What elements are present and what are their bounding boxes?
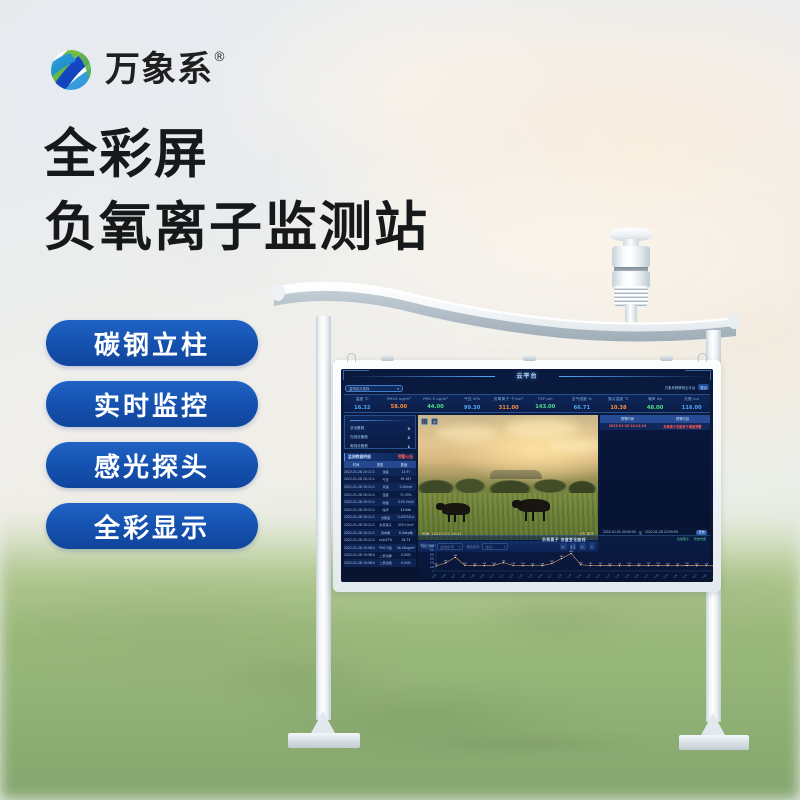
log-cell-type: 雨量 xyxy=(375,500,395,505)
right-base-gusset xyxy=(700,713,726,737)
log-panel-title: 监测数据明细 xyxy=(348,454,371,460)
alerts-empty-area xyxy=(600,430,710,527)
sensor-stem xyxy=(625,304,637,322)
cattle-leg xyxy=(532,510,534,521)
metric-noise: 噪声 db 48.00 xyxy=(637,395,674,412)
alerts-table-header: 预警时间 预警内容 xyxy=(600,415,710,423)
sensor-upper-body xyxy=(612,246,650,268)
log-table-body[interactable]: 2022-01-28 20:11:19 温度 13.97 2022-01-28 … xyxy=(344,468,416,567)
alerts-panel[interactable]: 预警时间 预警内容 2022-01-28 20:11:19 负氧离子浓度低于阈值… xyxy=(600,415,710,536)
range-separator: 至 xyxy=(639,530,642,535)
metric-value: 58.00 xyxy=(381,404,418,410)
svg-text:126: 126 xyxy=(531,563,535,565)
metric-value: 99.30 xyxy=(454,405,491,411)
svg-text:500: 500 xyxy=(430,549,435,552)
log-cell-time: 2022-01-28 20:11:19 xyxy=(344,477,375,481)
cloud-shape xyxy=(436,425,496,441)
svg-text:01-18: 01-18 xyxy=(557,574,563,578)
logout-button[interactable]: 退出 xyxy=(698,384,709,390)
metric-label: PM10 ug/m³ xyxy=(381,397,418,401)
trend-line-chart: 010020030040050060012001-0519501-0633001… xyxy=(420,544,713,578)
alert-notice-label[interactable]: 预警公告 xyxy=(398,454,413,460)
device-stats-box: 总设备数 3 在线设备数 2 离线设备数 1 xyxy=(344,415,416,449)
cattle-head xyxy=(436,503,445,510)
cloud-shape xyxy=(506,419,578,439)
svg-text:02-03: 02-03 xyxy=(711,574,713,578)
metric-label: 露点温度 ℃ xyxy=(600,397,637,402)
svg-text:01-09: 01-09 xyxy=(470,574,476,578)
log-cell-type: 二氧化碳 xyxy=(375,553,395,558)
log-cell-type: 噪声 xyxy=(375,507,395,512)
log-cell-time: 2022-01-28 20:11:19 xyxy=(344,508,375,512)
log-cell-time: 2022-01-28 19:56:07 xyxy=(344,561,375,565)
log-column-type: 类型 xyxy=(368,462,392,467)
log-cell-type: PM2.5值 xyxy=(375,545,395,550)
stat-label: 在线设备数 xyxy=(350,435,368,440)
metric-pm25: PM2.5 ug/m³ 44.00 xyxy=(417,395,454,412)
account-name: 万象系物联网云平台 xyxy=(665,385,696,390)
table-row[interactable]: 2022-01-28 20:11:19 负氧离子浓度低于阈值预警 xyxy=(600,423,710,431)
log-cell-value: 13.97 xyxy=(396,470,416,474)
cattle-leg xyxy=(543,510,545,521)
stat-value: 1 xyxy=(407,445,410,449)
svg-text:600: 600 xyxy=(430,545,435,548)
metric-label: 气压 kPa xyxy=(454,397,491,402)
svg-text:01-10: 01-10 xyxy=(480,574,486,578)
svg-text:01-23: 01-23 xyxy=(605,574,611,578)
table-row[interactable]: 2022-01-28 19:56:07 PM2.5值 56.26ug/m³ xyxy=(344,544,416,552)
log-cell-value: 0.00% xyxy=(396,561,416,565)
wave-canopy xyxy=(270,278,740,350)
metric-negative-oxygen-ion: 负氧离子 个/cm³ 311.00 xyxy=(490,395,527,412)
svg-text:330: 330 xyxy=(454,555,458,557)
metric-tsp: TSP μm 143.00 xyxy=(527,395,564,412)
log-cell-value: 320个/cm³ xyxy=(396,522,416,527)
log-panel-header: 监测数据明细 预警公告 xyxy=(344,453,416,461)
metric-label: 空气湿度 % xyxy=(564,397,601,402)
ground-shadow xyxy=(360,736,700,752)
legend-item-average: 历史均值 xyxy=(694,537,706,541)
svg-text:0: 0 xyxy=(433,570,435,573)
svg-text:01-05: 01-05 xyxy=(431,574,437,578)
svg-text:126: 126 xyxy=(705,563,709,565)
cattle-leg xyxy=(454,513,456,522)
account-box: 万象系物联网云平台 退出 xyxy=(665,384,709,390)
svg-text:01-07: 01-07 xyxy=(451,574,457,578)
log-cell-value: 99.187 xyxy=(396,477,416,481)
log-column-value: 数值 xyxy=(392,462,416,467)
log-cell-value: 71.95% xyxy=(396,493,416,497)
log-cell-value: 18.73 xyxy=(396,538,416,542)
svg-text:132: 132 xyxy=(589,563,593,565)
ultrasonic-weather-sensor-icon xyxy=(603,222,659,310)
led-display-enclosure: 云平台 监测站点选择 ▾ 万象系物联网云平台 退出 温度 ℃ 16.32 PM1… xyxy=(333,360,721,592)
left-post xyxy=(316,316,331,720)
table-row[interactable]: 2022-01-28 20:11:19 温度 13.97 xyxy=(344,468,416,476)
log-cell-type: co2ulT% xyxy=(375,538,395,542)
cattle-head xyxy=(512,500,522,508)
metric-value: 44.00 xyxy=(417,404,454,410)
log-cell-value: 56.26ug/m³ xyxy=(396,546,416,550)
metric-label: TSP μm xyxy=(527,397,564,401)
stat-label: 离线设备数 xyxy=(350,444,368,449)
metric-label: 负氧离子 个/cm³ xyxy=(490,397,527,402)
log-cell-value: 43.6db xyxy=(396,508,416,512)
log-cell-type: 光照度 xyxy=(375,515,395,520)
svg-text:01-13: 01-13 xyxy=(509,574,515,578)
svg-text:420: 420 xyxy=(569,551,573,553)
svg-text:128: 128 xyxy=(666,563,670,565)
svg-text:400: 400 xyxy=(430,553,435,556)
svg-text:130: 130 xyxy=(685,563,689,565)
svg-text:02-01: 02-01 xyxy=(692,574,698,578)
bezel-tab-3 xyxy=(660,356,673,361)
metric-dew-point: 露点温度 ℃ 10.38 xyxy=(600,395,637,412)
svg-text:01-22: 01-22 xyxy=(596,574,602,578)
log-cell-time: 2022-01-28 20:11:19 xyxy=(344,523,375,527)
snapshot-icon[interactable]: ◎ xyxy=(431,418,438,425)
dashboard-screen[interactable]: 云平台 监测站点选择 ▾ 万象系物联网云平台 退出 温度 ℃ 16.32 PM1… xyxy=(341,369,713,582)
bezel-hook-left xyxy=(347,353,356,362)
alert-cell-time: 2022-01-28 20:11:19 xyxy=(600,424,655,428)
log-cell-time: 2022-01-28 20:11:19 xyxy=(344,470,375,474)
log-cell-type: 湿度 xyxy=(375,492,395,497)
svg-text:01-15: 01-15 xyxy=(528,574,534,578)
stat-offline-devices: 离线设备数 1 xyxy=(350,442,410,451)
svg-text:132: 132 xyxy=(647,563,651,565)
log-cell-type: 风速 xyxy=(375,484,395,489)
log-cell-time: 2022-01-28 20:11:19 xyxy=(344,538,375,542)
log-cell-time: 2022-01-28 20:11:19 xyxy=(344,485,375,489)
svg-text:200: 200 xyxy=(502,560,506,562)
svg-text:01-20: 01-20 xyxy=(576,574,582,578)
left-base-gusset xyxy=(310,711,336,735)
table-row[interactable]: 2022-01-28 20:11:19 噪声 43.6db xyxy=(344,506,416,514)
log-column-time: 时间 xyxy=(344,462,368,467)
site-select-dropdown[interactable]: 监测站点选择 ▾ xyxy=(345,385,403,392)
svg-text:132: 132 xyxy=(511,563,515,565)
svg-text:01-25: 01-25 xyxy=(625,574,631,578)
dashboard-title: 云平台 xyxy=(341,371,713,380)
range-end-value[interactable]: 2022-01-28 23:59:59 xyxy=(645,530,678,534)
svg-text:01-08: 01-08 xyxy=(460,574,466,578)
table-row[interactable]: 2022-01-28 20:11:19 光照度 0.00732Lx xyxy=(344,514,416,522)
right-base-plate xyxy=(679,735,749,750)
trend-chart-panel: 负氧离子 浓度变化曲线 负氧离子 历史均值 浓度(个/cm³) 01002003… xyxy=(418,535,710,579)
svg-text:126: 126 xyxy=(676,563,680,565)
left-base-plate xyxy=(288,733,360,748)
svg-text:01-29: 01-29 xyxy=(663,574,669,578)
log-cell-time: 2022-01-28 20:11:19 xyxy=(344,493,375,497)
alert-cell-content: 负氧离子浓度低于阈值预警 xyxy=(655,424,710,429)
metric-pressure: 气压 kPa 99.30 xyxy=(454,395,491,412)
metric-value: 48.00 xyxy=(637,405,674,411)
svg-text:128: 128 xyxy=(637,563,641,565)
svg-text:300: 300 xyxy=(430,558,435,561)
svg-text:01-19: 01-19 xyxy=(567,574,573,578)
cattle-leg xyxy=(463,513,465,522)
site-select-value: 监测站点选择 xyxy=(349,386,369,391)
svg-text:130: 130 xyxy=(627,563,631,565)
log-cell-time: 2022-01-28 20:11:19 xyxy=(344,531,375,535)
chart-legend: 负氧离子 历史均值 xyxy=(677,537,706,541)
table-row[interactable]: 2022-01-28 20:11:19 负氧离子 320个/cm³ xyxy=(344,521,416,529)
log-cell-time: 2022-01-28 20:11:19 xyxy=(344,500,375,504)
screen-header: 云平台 xyxy=(341,369,713,384)
table-row[interactable]: 2022-01-28 20:11:19 风向角 8.4deg角 xyxy=(344,529,416,537)
log-cell-time: 2022-01-28 19:56:07 xyxy=(344,553,375,557)
cattle-silhouette xyxy=(518,499,550,512)
range-start-value[interactable]: 2022-01-01 00:00:00 xyxy=(603,530,636,534)
svg-text:135: 135 xyxy=(463,563,467,565)
table-row[interactable]: 2022-01-28 20:11:19 co2ulT% 18.73 xyxy=(344,536,416,544)
cattle-leg xyxy=(525,510,527,521)
metric-value: 143.00 xyxy=(527,404,564,410)
log-cell-time: 2022-01-28 20:11:19 xyxy=(344,515,375,519)
log-cell-type: 温度 xyxy=(375,469,395,474)
alert-column-time: 预警时间 xyxy=(600,416,655,421)
log-cell-value: 8.4deg角 xyxy=(396,530,416,535)
svg-text:128: 128 xyxy=(695,563,699,565)
cattle-silhouette xyxy=(442,503,470,515)
metric-humidity: 空气湿度 % 66.71 xyxy=(564,395,601,412)
table-row[interactable]: 2022-01-28 19:56:07 二氧化碳 0.00% xyxy=(344,552,416,560)
log-cell-type: 二氧化硫 xyxy=(375,560,395,565)
svg-text:01-12: 01-12 xyxy=(499,574,505,578)
table-row[interactable]: 2022-01-28 20:11:19 湿度 71.95% xyxy=(344,491,416,499)
left-sidebar: 总设备数 3 在线设备数 2 离线设备数 1 监测数据明细 预警公告 xyxy=(344,415,416,536)
svg-text:128: 128 xyxy=(473,563,477,565)
table-row[interactable]: 2022-01-28 19:56:07 二氧化硫 0.00% xyxy=(344,559,416,567)
metric-value: 311.00 xyxy=(490,405,527,411)
svg-text:130: 130 xyxy=(656,563,660,565)
stat-value: 3 xyxy=(407,427,410,431)
svg-text:01-24: 01-24 xyxy=(615,574,621,578)
metric-illuminance: 光照 lux 116.00 xyxy=(673,395,710,412)
fullscreen-icon[interactable]: ⛶ xyxy=(421,418,428,425)
metric-pm10: PM10 ug/m³ 58.00 xyxy=(381,395,418,412)
svg-text:02-02: 02-02 xyxy=(702,574,708,578)
sensor-radiation-shield xyxy=(614,286,648,306)
metric-value: 10.38 xyxy=(600,405,637,411)
log-cell-value: 0.00 0m/h xyxy=(396,500,416,504)
log-table-header: 时间 类型 数值 xyxy=(344,461,416,468)
log-cell-type: 负氧离子 xyxy=(375,522,395,527)
log-cell-value: 0.00% xyxy=(396,553,416,557)
svg-text:01-06: 01-06 xyxy=(441,574,447,578)
svg-text:01-21: 01-21 xyxy=(586,574,592,578)
svg-text:130: 130 xyxy=(521,563,525,565)
svg-text:100: 100 xyxy=(430,566,435,569)
svg-text:130: 130 xyxy=(482,563,486,565)
svg-text:01-27: 01-27 xyxy=(644,574,650,578)
metric-value: 16.32 xyxy=(344,405,381,411)
bezel-tab-1 xyxy=(381,356,394,361)
svg-text:130: 130 xyxy=(598,563,602,565)
monitoring-station-structure: 云平台 监测站点选择 ▾ 万象系物联网云平台 退出 温度 ℃ 16.32 PM1… xyxy=(0,0,800,800)
table-row[interactable]: 2022-01-28 20:11:19 风速 0.30m/s xyxy=(344,483,416,491)
svg-text:01-11: 01-11 xyxy=(489,574,495,578)
video-feed-panel[interactable]: ⛶ ◎ 时间: 2022/7/23 16:42 山东 潍坊 xyxy=(418,415,598,540)
metric-strip: 温度 ℃ 16.32 PM10 ug/m³ 58.00 PM2.5 ug/m³ … xyxy=(344,394,710,413)
stat-label: 总设备数 xyxy=(350,426,364,431)
svg-text:01-30: 01-30 xyxy=(673,574,679,578)
metric-label: 光照 lux xyxy=(673,397,710,402)
chevron-down-icon: ▾ xyxy=(397,387,399,391)
cattle-leg xyxy=(448,513,450,522)
svg-text:01-28: 01-28 xyxy=(653,574,659,578)
svg-text:01-14: 01-14 xyxy=(518,574,524,578)
svg-text:01-31: 01-31 xyxy=(682,574,688,578)
bezel-hook-right xyxy=(698,353,707,362)
log-cell-type: 风向角 xyxy=(375,530,395,535)
stat-value: 2 xyxy=(407,436,410,440)
svg-text:01-17: 01-17 xyxy=(547,574,553,578)
svg-text:01-16: 01-16 xyxy=(538,574,544,578)
legend-item-series: 负氧离子 xyxy=(677,537,689,541)
stat-online-devices: 在线设备数 2 xyxy=(350,433,410,442)
log-cell-time: 2022-01-28 19:56:07 xyxy=(344,546,375,550)
chart-title: 负氧离子 浓度变化曲线 xyxy=(418,537,710,543)
alert-column-content: 预警内容 xyxy=(655,416,710,421)
metric-value: 66.71 xyxy=(564,405,601,411)
table-row[interactable]: 2022-01-28 20:11:19 雨量 0.00 0m/h xyxy=(344,498,416,506)
stats-accent-bar xyxy=(350,420,410,421)
log-cell-value: 0.00732Lx xyxy=(396,515,416,519)
table-row[interactable]: 2022-01-28 20:11:19 气压 99.187 xyxy=(344,476,416,484)
video-overlay-icons[interactable]: ⛶ ◎ xyxy=(421,418,438,425)
metric-temperature: 温度 ℃ 16.32 xyxy=(344,395,381,412)
svg-text:128: 128 xyxy=(608,563,612,565)
query-button[interactable]: 查询 xyxy=(696,530,707,535)
svg-text:126: 126 xyxy=(618,563,622,565)
stat-total-devices: 总设备数 3 xyxy=(350,424,410,433)
svg-text:01-26: 01-26 xyxy=(634,574,640,578)
metric-label: PM2.5 ug/m³ xyxy=(417,397,454,401)
metric-value: 116.00 xyxy=(673,405,710,411)
cloud-shape xyxy=(548,439,598,453)
metric-label: 温度 ℃ xyxy=(344,397,381,402)
svg-text:150: 150 xyxy=(579,562,583,564)
log-cell-value: 0.30m/s xyxy=(396,485,416,489)
log-cell-type: 气压 xyxy=(375,477,395,482)
metric-label: 噪声 db xyxy=(637,397,674,402)
bezel-tab-2 xyxy=(523,356,536,361)
video-scene: ⛶ ◎ 时间: 2022/7/23 16:42 山东 潍坊 xyxy=(418,415,598,540)
